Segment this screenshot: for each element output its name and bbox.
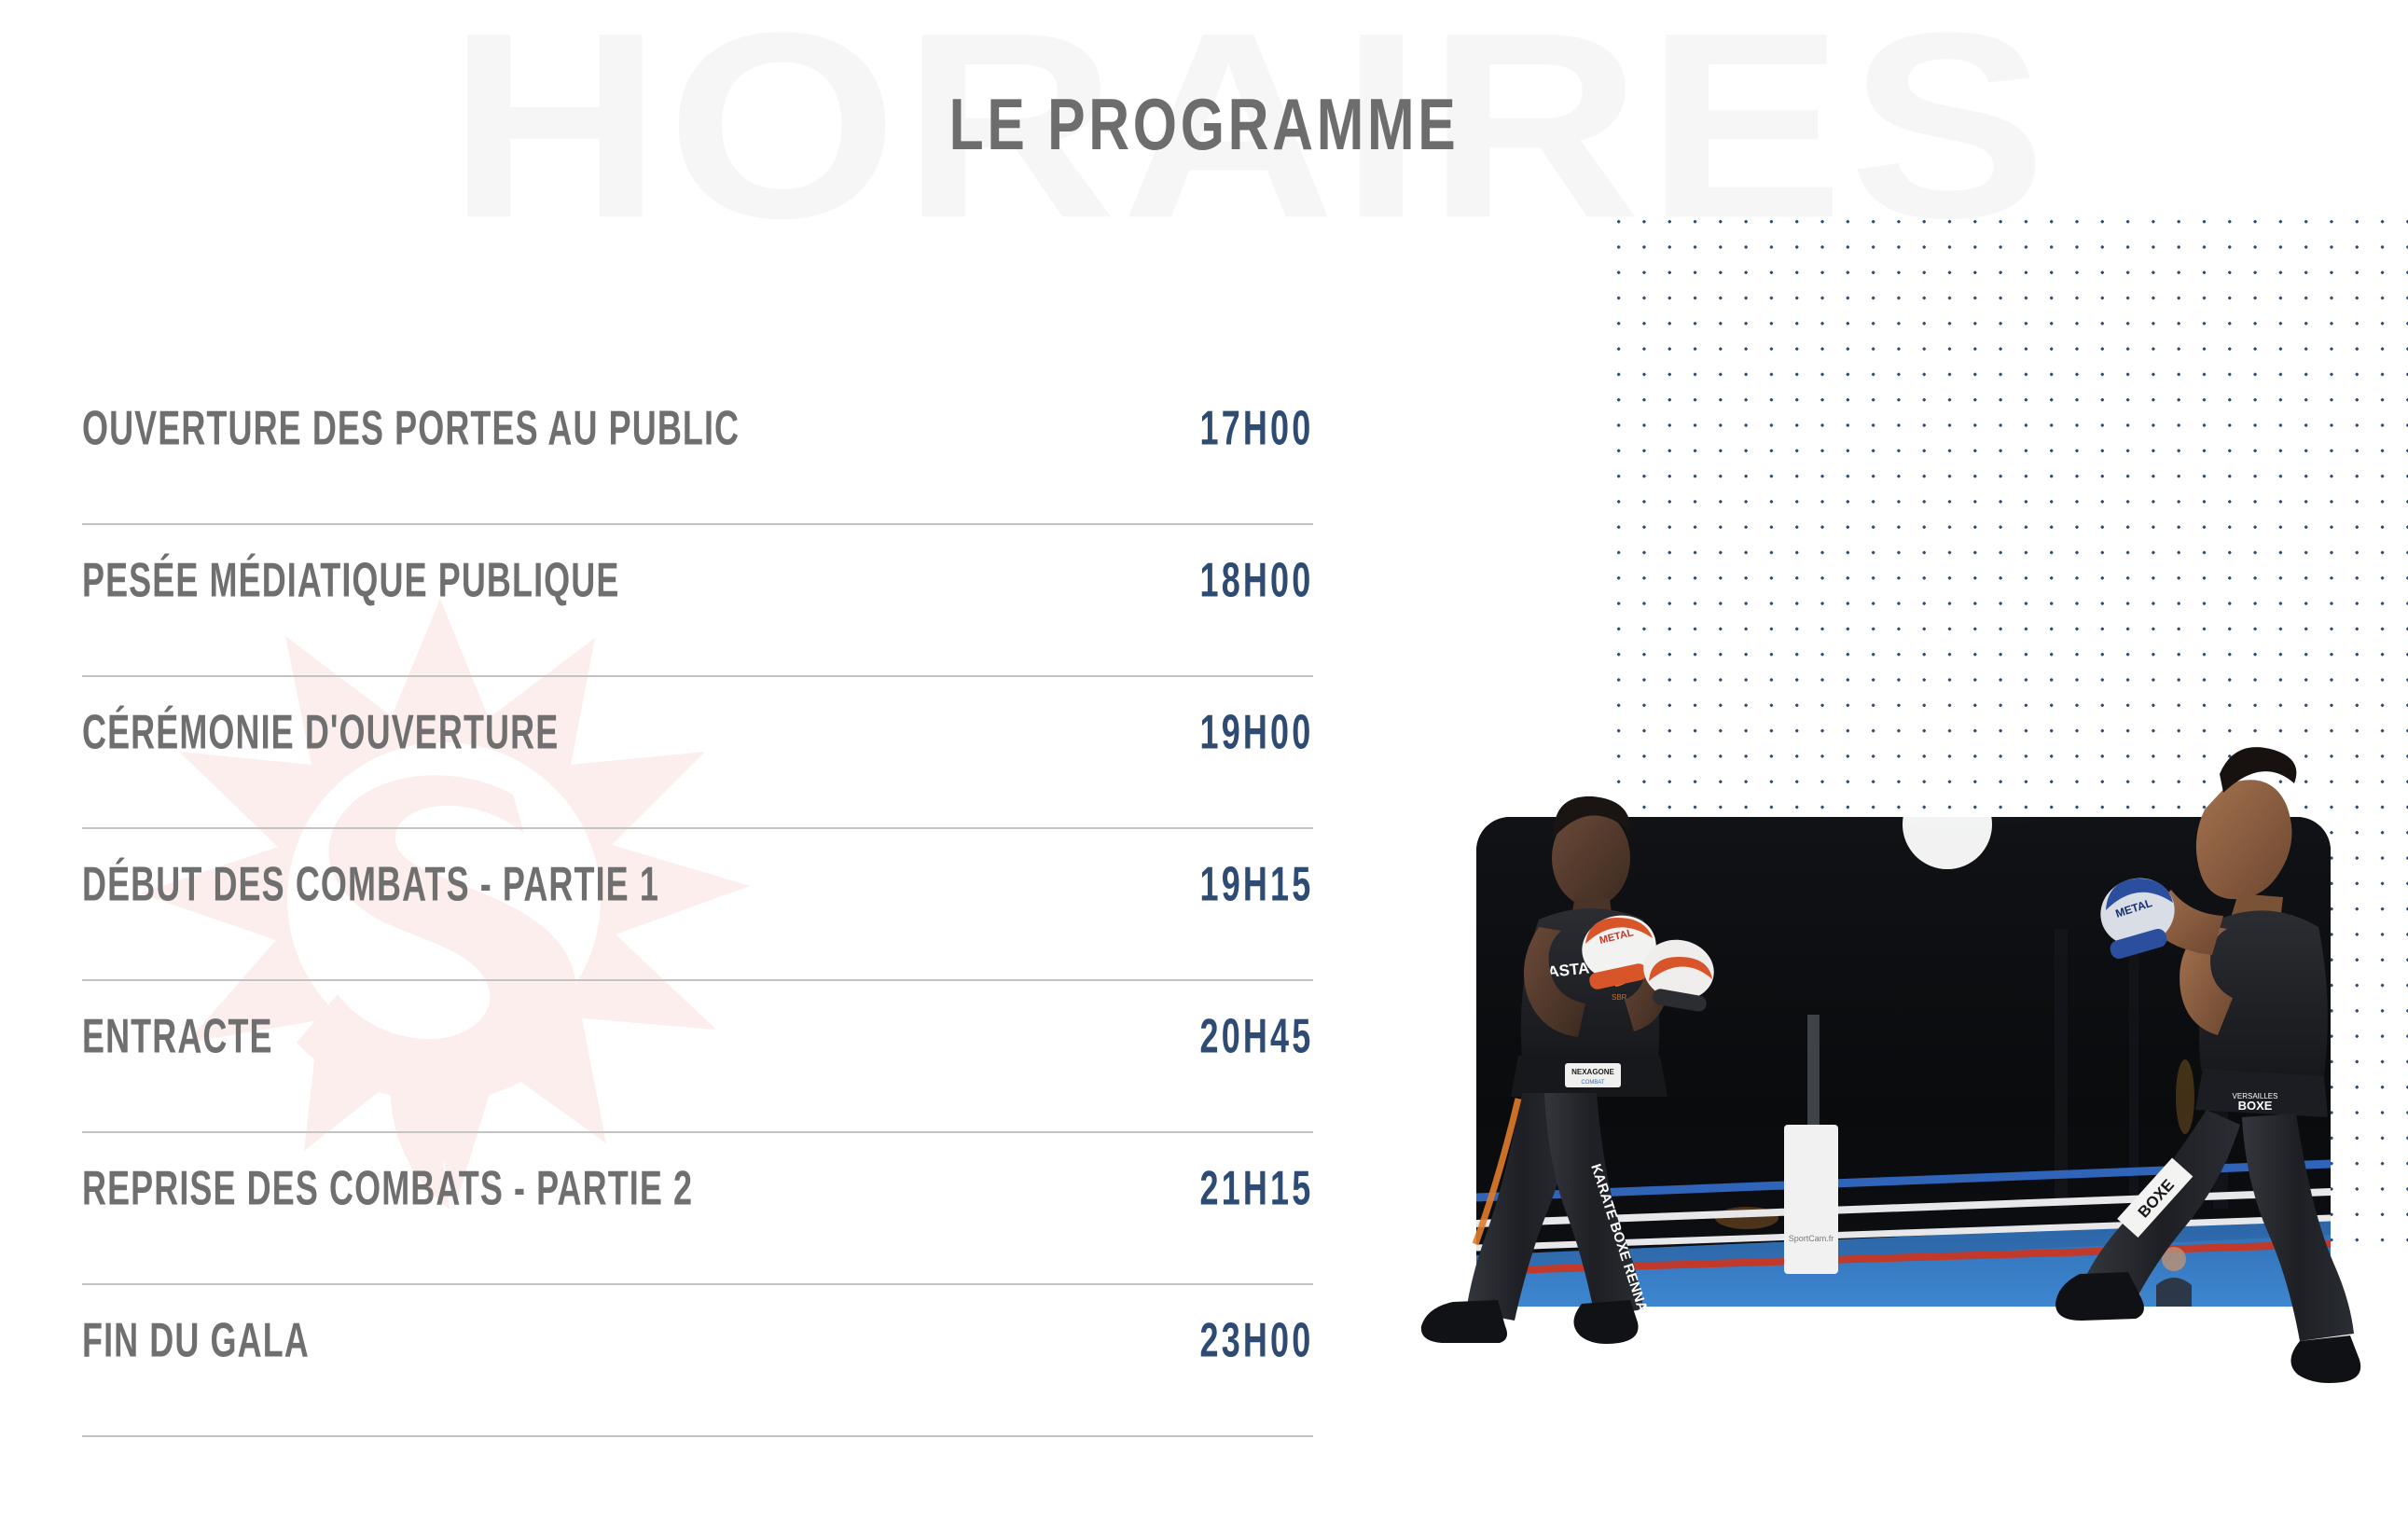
slide-root: HORAIRES LE PROGRAMME OUVERTURE DES PORT… [0, 0, 2408, 1522]
schedule-row: CÉRÉMONIE D'OUVERTURE 19H00 [82, 677, 1313, 829]
schedule-row-time: 18H00 [1199, 525, 1313, 609]
schedule-row-time: 19H00 [1199, 677, 1313, 761]
schedule-row-time: 17H00 [1199, 373, 1313, 457]
page-title: LE PROGRAMME [96, 82, 2311, 166]
svg-text:SportCam.fr: SportCam.fr [1789, 1234, 1834, 1243]
schedule-row: ENTRACTE 20H45 [82, 981, 1313, 1133]
schedule-row: PESÉE MÉDIATIQUE PUBLIQUE 18H00 [82, 525, 1313, 677]
schedule-row: REPRISE DES COMBATS - PARTIE 2 21H15 [82, 1133, 1313, 1285]
schedule-row-label: OUVERTURE DES PORTES AU PUBLIC [82, 373, 740, 457]
schedule-row-time: 20H45 [1199, 981, 1313, 1065]
schedule-row: DÉBUT DES COMBATS - PARTIE 1 19H15 [82, 829, 1313, 981]
schedule-row-time: 23H00 [1199, 1285, 1313, 1369]
schedule-row-label: DÉBUT DES COMBATS - PARTIE 1 [82, 829, 659, 913]
schedule-row-label: REPRISE DES COMBATS - PARTIE 2 [82, 1133, 693, 1217]
schedule-row-label: ENTRACTE [82, 981, 273, 1065]
schedule-row-time: 19H15 [1199, 829, 1313, 913]
schedule-row-label: FIN DU GALA [82, 1285, 310, 1369]
boxing-photo-card: SportCam.fr [1476, 817, 2331, 1307]
schedule-list: OUVERTURE DES PORTES AU PUBLIC 17H00 PES… [82, 373, 1313, 1437]
schedule-row: FIN DU GALA 23H00 [82, 1285, 1313, 1437]
schedule-row-label: PESÉE MÉDIATIQUE PUBLIQUE [82, 525, 619, 609]
schedule-row: OUVERTURE DES PORTES AU PUBLIC 17H00 [82, 373, 1313, 525]
schedule-row-time: 21H15 [1199, 1133, 1313, 1217]
schedule-row-label: CÉRÉMONIE D'OUVERTURE [82, 677, 559, 761]
